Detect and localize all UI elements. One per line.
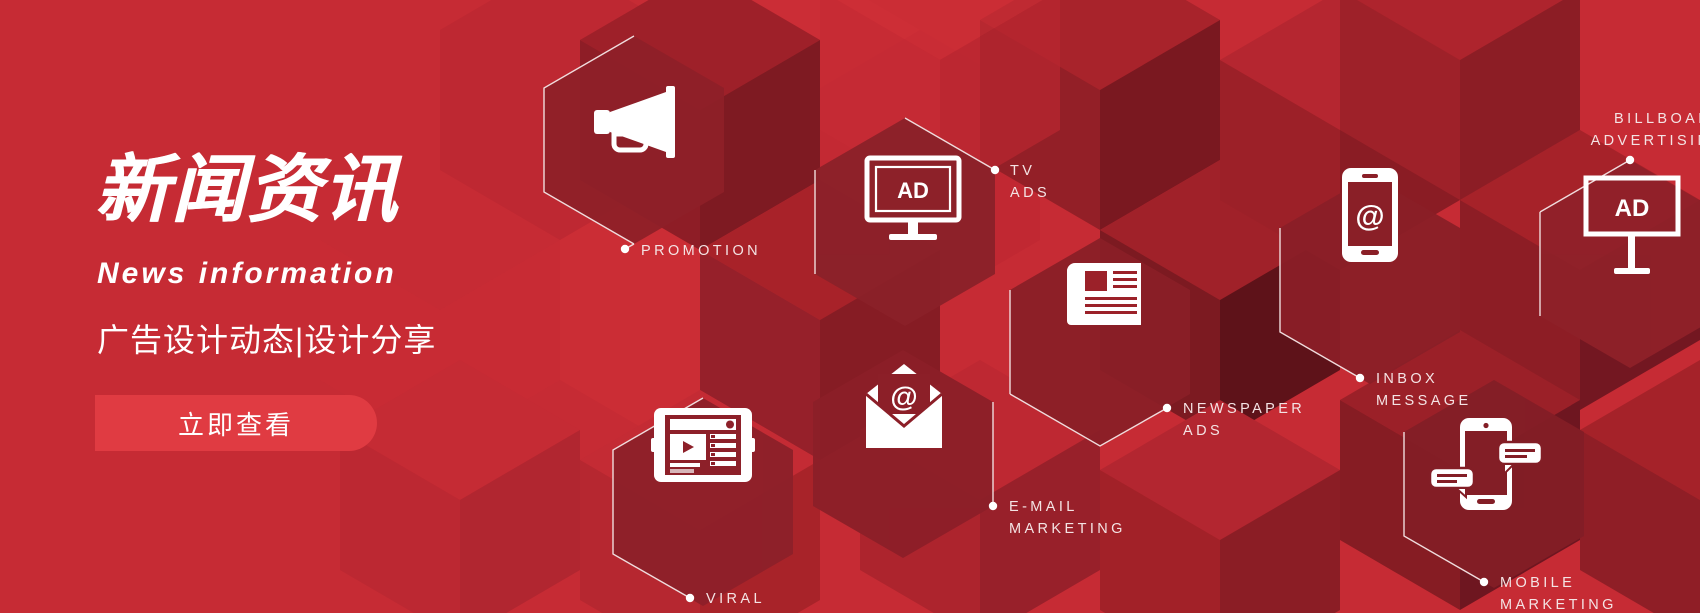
icons-layer: AD @ xyxy=(0,0,1700,613)
smartphone-at-icon: @ xyxy=(1342,168,1398,262)
node-label-billboard-advertising: BILLBOARD ADVERTISING xyxy=(1536,108,1700,153)
open-envelope-at-icon: @ xyxy=(866,364,942,448)
node-label-promotion: PROMOTION xyxy=(641,240,761,262)
node-billboard-advertising[interactable]: BILLBOARD ADVERTISING xyxy=(1536,108,1700,153)
node-label-mobile-marketing: MOBILE MARKETING xyxy=(1500,572,1617,613)
node-label-newspaper-ads: NEWSPAPER ADS xyxy=(1183,398,1305,443)
newspaper-icon xyxy=(1067,263,1141,325)
tv-screen-ad-icon: AD xyxy=(867,158,959,240)
tv-ad-text: AD xyxy=(897,178,929,203)
tablet-video-icon xyxy=(651,408,755,482)
node-label-tv-ads: TV ADS xyxy=(1010,160,1050,205)
email-at-text: @ xyxy=(890,381,917,412)
inbox-at-text: @ xyxy=(1355,200,1384,233)
node-label-viral-marketing: VIRAL MARKETING xyxy=(706,588,823,613)
billboard-ad-icon: AD xyxy=(1586,178,1678,274)
smartphone-chat-icon xyxy=(1430,418,1542,510)
megaphone-icon xyxy=(594,86,675,158)
news-banner: AD @ xyxy=(0,0,1700,613)
node-label-email-marketing: E-MAIL MARKETING xyxy=(1009,496,1126,541)
node-label-inbox-message: INBOX MESSAGE xyxy=(1376,368,1472,413)
billboard-ad-text: AD xyxy=(1615,195,1650,222)
